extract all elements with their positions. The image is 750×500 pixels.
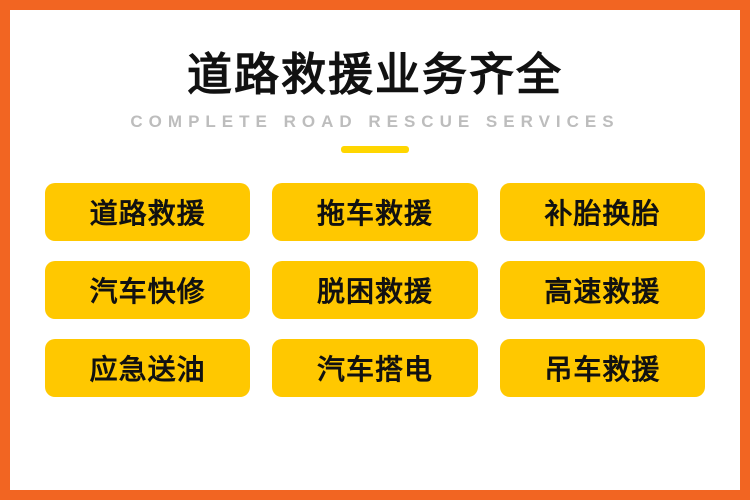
poster-header: 道路救援业务齐全 COMPLETE ROAD RESCUE SERVICES: [20, 20, 730, 153]
divider: [341, 146, 409, 153]
service-chip[interactable]: 脱困救援: [272, 261, 477, 319]
service-chip[interactable]: 高速救援: [500, 261, 705, 319]
service-chip[interactable]: 拖车救援: [272, 183, 477, 241]
service-chip[interactable]: 道路救援: [45, 183, 250, 241]
service-chip[interactable]: 吊车救援: [500, 339, 705, 397]
service-grid: 道路救援 拖车救援 补胎换胎 汽车快修 脱困救援 高速救援 应急送油 汽车搭电 …: [45, 183, 705, 397]
page-subtitle: COMPLETE ROAD RESCUE SERVICES: [20, 112, 730, 132]
service-chip[interactable]: 汽车搭电: [272, 339, 477, 397]
poster-inner: 道路救援业务齐全 COMPLETE ROAD RESCUE SERVICES 道…: [20, 20, 730, 480]
service-chip[interactable]: 汽车快修: [45, 261, 250, 319]
page-title: 道路救援业务齐全: [20, 50, 730, 100]
service-chip[interactable]: 补胎换胎: [500, 183, 705, 241]
service-chip[interactable]: 应急送油: [45, 339, 250, 397]
poster: 道路救援业务齐全 COMPLETE ROAD RESCUE SERVICES 道…: [0, 0, 750, 500]
